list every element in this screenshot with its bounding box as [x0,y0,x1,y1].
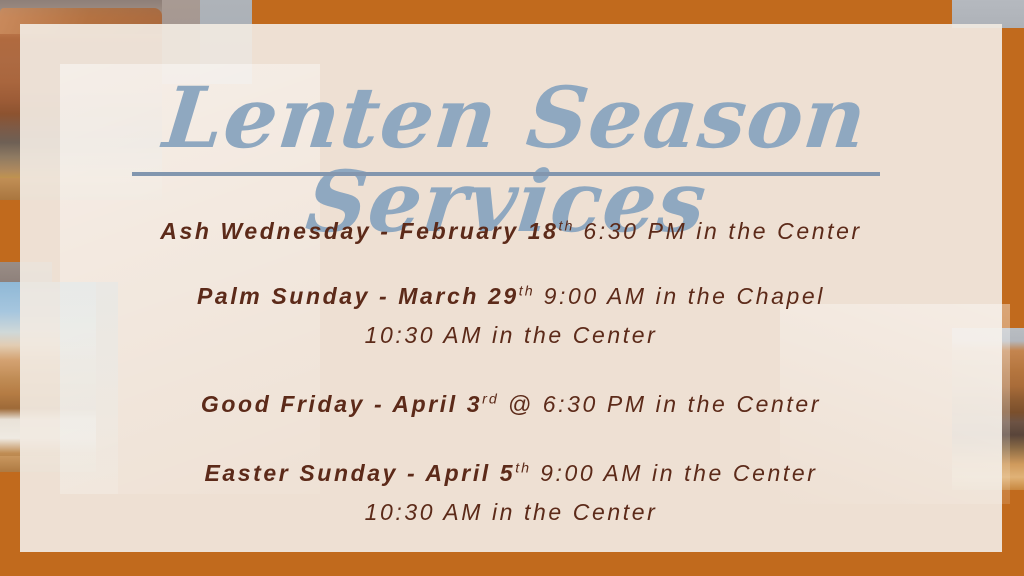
service-lead: Palm Sunday - March 29 [197,283,519,309]
service-second-line: 10:30 AM in the Center [20,322,1002,349]
service-item: Ash Wednesday - February 18th 6:30 PM in… [20,218,1002,245]
title-divider [132,172,880,176]
service-ordinal: rd [482,391,499,407]
service-second-line: 10:30 AM in the Center [20,499,1002,526]
service-lead: Good Friday - April 3 [201,391,482,417]
service-ordinal: th [515,460,531,476]
service-item: Good Friday - April 3rd @ 6:30 PM in the… [20,391,1002,418]
service-item: Easter Sunday - April 5th 9:00 AM in the… [20,460,1002,526]
service-ordinal: th [519,283,535,299]
service-detail: 6:30 PM in the Center [574,218,861,244]
lenten-season-flyer: Lenten Season Services Ash Wednesday - F… [0,0,1024,576]
service-list: Ash Wednesday - February 18th 6:30 PM in… [20,196,1002,526]
service-item: Palm Sunday - March 29th 9:00 AM in the … [20,283,1002,349]
service-lead: Easter Sunday - April 5 [204,460,515,486]
service-detail: 9:00 AM in the Center [531,460,817,486]
service-lead: Ash Wednesday - February 18 [160,218,558,244]
content-card: Lenten Season Services Ash Wednesday - F… [20,24,1002,552]
service-ordinal: th [559,218,575,234]
service-detail: @ 6:30 PM in the Center [499,391,821,417]
service-detail: 9:00 AM in the Chapel [535,283,825,309]
